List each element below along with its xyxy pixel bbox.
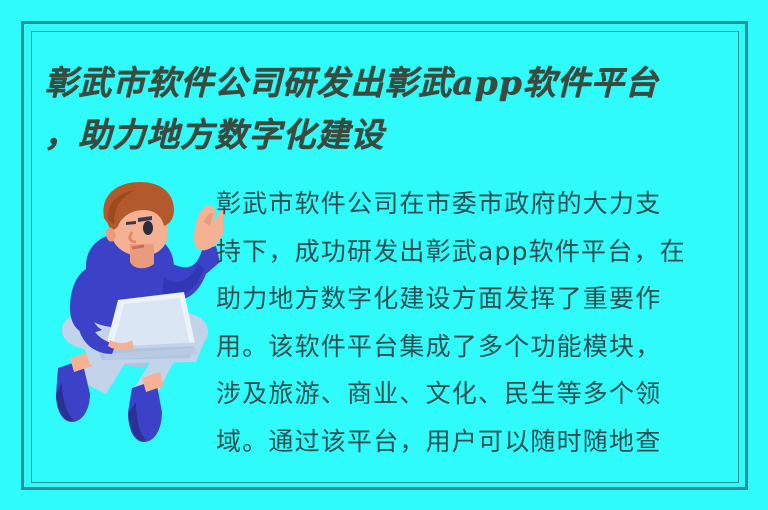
person-with-laptop-svg [48,182,223,467]
body-line-4: 用。该软件平台集成了多个功能模块， [216,323,728,371]
body-line-2: 持下，成功研发出彰武app软件平台，在 [216,228,728,276]
title-line-2: ，助力地方数字化建设 [44,109,734,161]
poster-canvas: 彰武市软件公司研发出彰武app软件平台 ，助力地方数字化建设 [0,0,768,510]
body-line-5: 涉及旅游、商业、文化、民生等多个领 [216,370,728,418]
person-with-laptop-illustration [48,182,223,467]
body-line-3: 助力地方数字化建设方面发挥了重要作 [216,275,728,323]
poster-title: 彰武市软件公司研发出彰武app软件平台 ，助力地方数字化建设 [44,57,734,161]
title-line-1: 彰武市软件公司研发出彰武app软件平台 [44,57,734,109]
poster-body-text: 彰武市软件公司在市委市政府的大力支 持下，成功研发出彰武app软件平台，在 助力… [216,180,728,466]
body-line-1: 彰武市软件公司在市委市政府的大力支 [216,180,728,228]
body-line-6: 域。通过该平台，用户可以随时随地查 [216,418,728,466]
